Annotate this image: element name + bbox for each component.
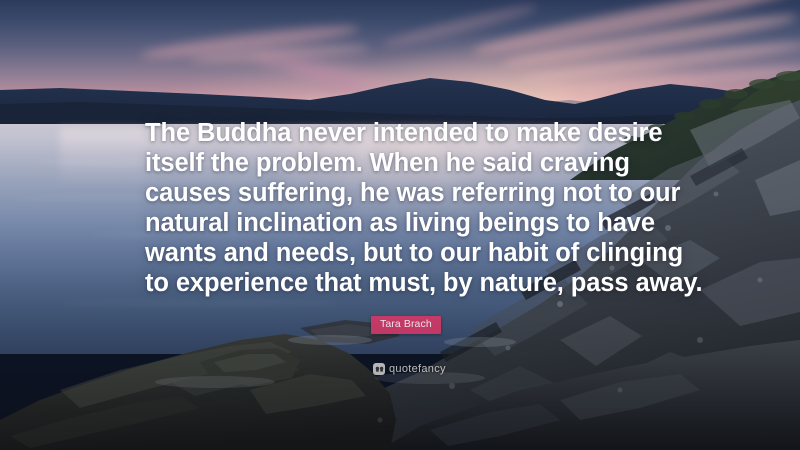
quote-line: wants and needs, but to our habit of cli…	[145, 238, 665, 268]
quote-text: The Buddha never intended to make desire…	[145, 118, 665, 298]
quotefancy-watermark: quotefancy	[373, 363, 446, 375]
quote-line: causes suffering, he was referring not t…	[145, 178, 665, 208]
watermark-label: quotefancy	[389, 363, 446, 375]
quote-image: The Buddha never intended to make desire…	[0, 0, 800, 450]
quote-line: natural inclination as living beings to …	[145, 208, 665, 238]
quote-line: itself the problem. When he said craving	[145, 148, 665, 178]
quote-mark-icon	[373, 363, 385, 375]
quote-line: The Buddha never intended to make desire	[145, 118, 665, 148]
quote-line: to experience that must, by nature, pass…	[145, 268, 665, 298]
author-badge: Tara Brach	[371, 316, 441, 334]
